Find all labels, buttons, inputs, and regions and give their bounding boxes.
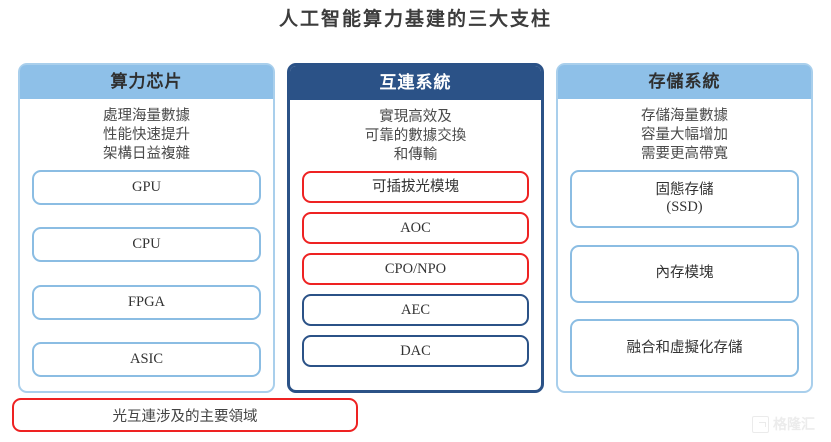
item-fpga[interactable]: FPGA bbox=[32, 285, 261, 320]
watermark-text: 格隆汇 bbox=[773, 414, 815, 434]
pillar-description-interconnect-system: 實現高效及 可靠的數據交換 和傳輸 bbox=[290, 100, 541, 169]
pillar-column-storage-system: 存儲系統 存儲海量數據 容量大幅增加 需要更高帶寬 固態存儲 (SSD) 內存模… bbox=[556, 63, 813, 393]
item-asic[interactable]: ASIC bbox=[32, 342, 261, 377]
item-aec[interactable]: AEC bbox=[302, 294, 529, 326]
pillar-column-compute-chip: 算力芯片 處理海量數據 性能快速提升 架構日益複雜 GPU CPU FPGA A… bbox=[18, 63, 275, 393]
gelonghui-logo-icon bbox=[752, 416, 769, 433]
legend-optical-interconnect-scope: 光互連涉及的主要領域 bbox=[12, 398, 358, 432]
pillar-header-interconnect-system: 互連系統 bbox=[290, 66, 541, 100]
item-dac[interactable]: DAC bbox=[302, 335, 529, 367]
page-title: 人工智能算力基建的三大支柱 bbox=[0, 4, 831, 31]
item-cpu[interactable]: CPU bbox=[32, 227, 261, 262]
pillar-description-compute-chip: 處理海量數據 性能快速提升 架構日益複雜 bbox=[20, 99, 273, 168]
item-converged-virtualized-storage[interactable]: 融合和虛擬化存儲 bbox=[570, 319, 799, 377]
pillar-description-storage-system: 存儲海量數據 容量大幅增加 需要更高帶寬 bbox=[558, 99, 811, 168]
pillar-header-storage-system: 存儲系統 bbox=[558, 65, 811, 99]
item-aoc[interactable]: AOC bbox=[302, 212, 529, 244]
item-memory-module[interactable]: 內存模塊 bbox=[570, 245, 799, 303]
pillar-items-interconnect-system: 可插拔光模塊 AOC CPO/NPO AEC DAC bbox=[290, 169, 541, 390]
pillar-items-storage-system: 固態存儲 (SSD) 內存模塊 融合和虛擬化存儲 bbox=[558, 168, 811, 391]
item-cpo-npo[interactable]: CPO/NPO bbox=[302, 253, 529, 285]
pillar-header-compute-chip: 算力芯片 bbox=[20, 65, 273, 99]
item-ssd[interactable]: 固態存儲 (SSD) bbox=[570, 170, 799, 228]
pillar-items-compute-chip: GPU CPU FPGA ASIC bbox=[20, 168, 273, 391]
item-pluggable-optical-module[interactable]: 可插拔光模塊 bbox=[302, 171, 529, 203]
watermark: 格隆汇 bbox=[752, 414, 815, 434]
pillars-container: 算力芯片 處理海量數據 性能快速提升 架構日益複雜 GPU CPU FPGA A… bbox=[18, 63, 813, 393]
item-gpu[interactable]: GPU bbox=[32, 170, 261, 205]
pillar-column-interconnect-system: 互連系統 實現高效及 可靠的數據交換 和傳輸 可插拔光模塊 AOC CPO/NP… bbox=[287, 63, 544, 393]
